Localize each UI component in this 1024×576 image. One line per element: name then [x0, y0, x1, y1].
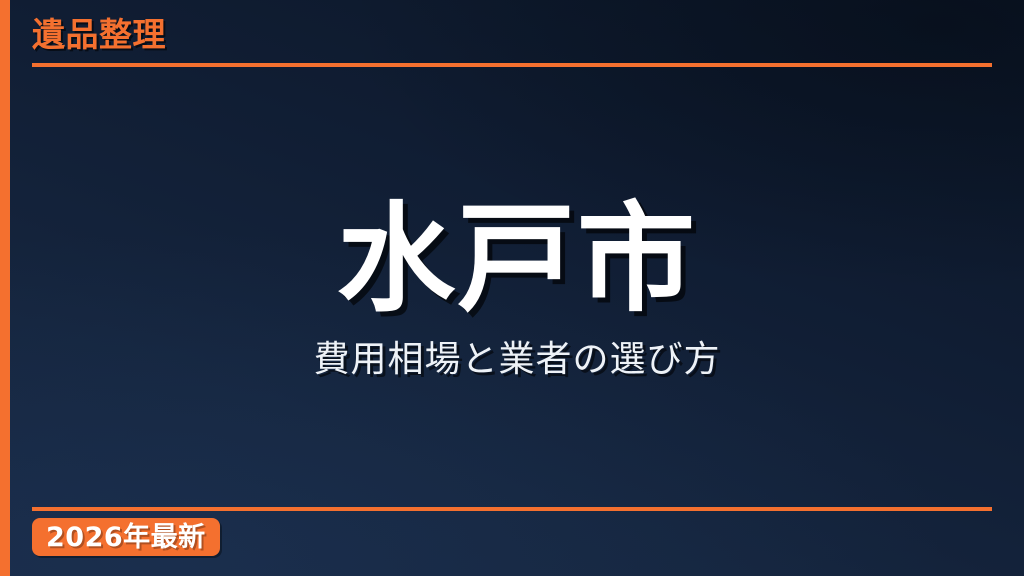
header-divider-rule: [32, 63, 992, 67]
year-badge-label: 2026年最新: [46, 524, 206, 551]
footer-divider-rule: [32, 507, 992, 511]
page-title: 水戸市: [337, 196, 697, 323]
year-badge: 2026年最新: [32, 518, 220, 556]
title-slide: 遺品整理 水戸市 費用相場と業者の選び方 2026年最新: [0, 0, 1024, 576]
slide-header: 遺品整理: [32, 16, 992, 55]
left-accent-bar: [0, 0, 10, 576]
page-subtitle: 費用相場と業者の選び方: [313, 339, 720, 380]
slide-center-content: 水戸市 費用相場と業者の選び方: [10, 0, 1024, 576]
category-label: 遺品整理: [32, 16, 992, 55]
